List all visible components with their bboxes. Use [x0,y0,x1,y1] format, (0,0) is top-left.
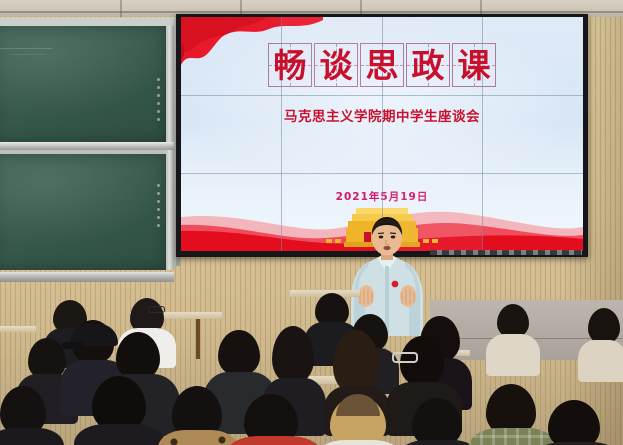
student-body [0,428,64,445]
slide-title-row: 畅 谈 思 政 课 [181,43,583,87]
eyeglasses [392,352,418,363]
video-wall-led-strip [430,250,582,255]
audience-group [0,290,623,445]
chalkboard-middle-rail [0,142,174,150]
chalkboard-panel-upper [0,26,166,142]
title-char-4-text: 政 [412,49,445,82]
title-char-5: 课 [452,43,496,87]
student-body [74,424,166,445]
title-char-2: 谈 [314,43,358,87]
title-char-1-text: 畅 [274,49,307,82]
desk-mid [0,326,36,332]
title-char-3-text: 思 [366,49,399,82]
student-head [116,332,160,380]
chalkboard-panel-lower [0,154,166,270]
student-body [578,340,623,382]
title-char-2-text: 谈 [320,49,353,82]
student-body-red [226,436,322,445]
student-body-leopard [158,430,238,445]
student-body [486,334,540,376]
student-head [497,304,529,338]
cap-brim [62,342,84,349]
student-body-plaid [468,428,558,445]
eyeglasses [148,306,165,313]
chalkboard-frame [0,18,180,266]
title-char-4: 政 [406,43,450,87]
student-head [218,330,260,376]
student-head-long [272,326,314,384]
student-head [588,308,620,344]
classroom-photo: 畅 谈 思 政 课 马克思主义学院期中学生座谈会 2021年5月19日 [0,0,623,445]
title-char-1: 畅 [268,43,312,87]
panel-seam-h2 [181,173,583,174]
student-head [548,400,600,445]
title-char-3: 思 [360,43,404,87]
title-char-5-text: 课 [458,49,491,82]
student-body [316,440,402,445]
chalk-tray [0,272,174,282]
